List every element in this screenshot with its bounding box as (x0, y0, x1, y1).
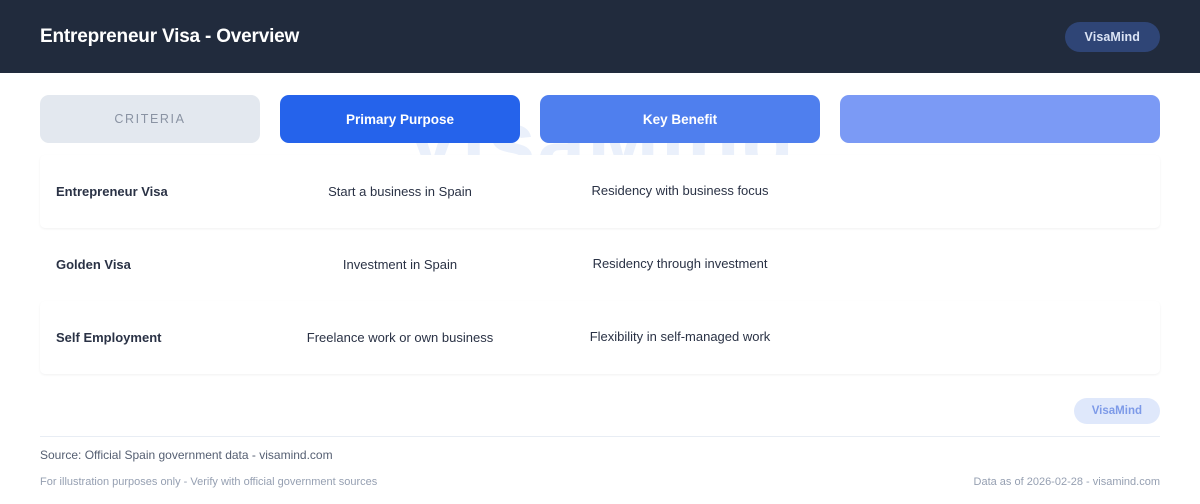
footer-brand-badge[interactable]: VisaMind (1074, 398, 1160, 424)
cell-criteria: Self Employment (40, 330, 260, 346)
footer-disclaimer: For illustration purposes only - Verify … (40, 476, 377, 488)
table-row[interactable]: Self Employment Freelance work or own bu… (40, 301, 1160, 374)
cell-criteria: Entrepreneur Visa (40, 184, 260, 200)
brand-badge[interactable]: VisaMind (1065, 22, 1160, 52)
table-row[interactable]: Golden Visa Investment in Spain Residenc… (40, 228, 1160, 301)
page-title: Entrepreneur Visa - Overview (40, 26, 299, 48)
table-body: Entrepreneur Visa Start a business in Sp… (40, 155, 1160, 374)
footer-divider (40, 436, 1160, 437)
column-header-criteria[interactable]: CRITERIA (40, 95, 260, 143)
cell-key-benefit: Residency with business focus (540, 182, 820, 201)
content-area: VisaMind CRITERIA Primary Purpose Key Be… (0, 73, 1200, 504)
page-root: Entrepreneur Visa - Overview VisaMind Vi… (0, 0, 1200, 504)
footer-data-as-of: Data as of 2026-02-28 - visamind.com (974, 476, 1160, 488)
column-header-key-benefit[interactable]: Key Benefit (540, 95, 820, 143)
app-header: Entrepreneur Visa - Overview VisaMind (0, 0, 1200, 73)
cell-primary-purpose: Investment in Spain (280, 257, 520, 273)
cell-key-benefit: Flexibility in self-managed work (540, 328, 820, 347)
cell-criteria: Golden Visa (40, 257, 260, 273)
comparison-table: CRITERIA Primary Purpose Key Benefit Ent… (40, 95, 1160, 374)
footer-brand-badge-wrap: VisaMind (1074, 398, 1160, 424)
cell-primary-purpose: Start a business in Spain (280, 184, 520, 200)
table-row[interactable]: Entrepreneur Visa Start a business in Sp… (40, 155, 1160, 228)
cell-key-benefit: Residency through investment (540, 255, 820, 274)
footer-source: Source: Official Spain government data -… (40, 448, 333, 462)
column-header-primary-purpose[interactable]: Primary Purpose (280, 95, 520, 143)
column-header-extra[interactable] (840, 95, 1160, 143)
table-header-row: CRITERIA Primary Purpose Key Benefit (40, 95, 1160, 143)
cell-primary-purpose: Freelance work or own business (280, 330, 520, 346)
